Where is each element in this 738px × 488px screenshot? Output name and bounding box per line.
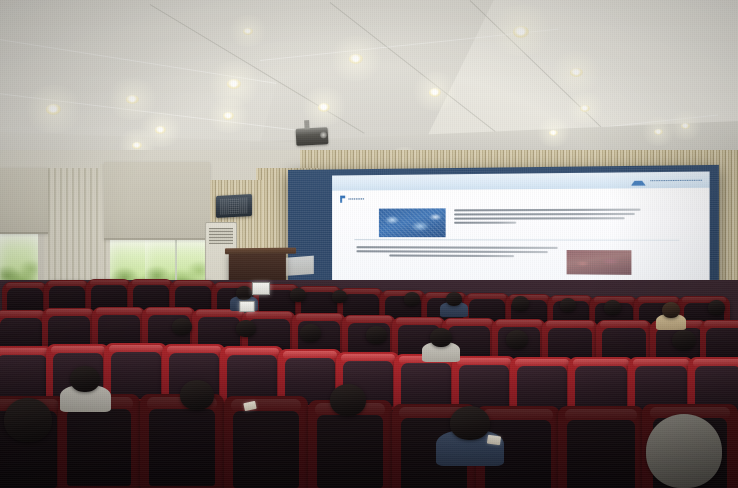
projector-icon [296,127,329,146]
blind-bar [0,232,48,234]
slide-title-text: ••••••••• [348,197,364,202]
roller-blind-center[interactable] [104,162,210,240]
attendee-head [450,406,490,440]
attendee-head [180,380,214,410]
downlight-icon [429,88,441,97]
slide-header: •••••••••••••••••••••••••••••• [332,171,710,190]
attendee-head [430,328,452,347]
slide-header-text: •••••••••••••••••••••••••••••• [650,178,702,183]
downlight-icon [46,104,61,115]
blind-bar [104,238,210,240]
roller-blind-left[interactable] [0,168,48,234]
attendee-head [446,292,462,306]
downlight-icon [580,105,590,112]
attendee-head [662,302,680,318]
attendee-laptop [239,301,254,312]
slide-image-network-map [379,208,446,237]
downlight-icon [132,142,142,149]
attendee-head [366,326,387,344]
led-screen[interactable]: •••••••••••••••••••••••••••••• ••••••••• [288,165,719,295]
auditorium-photo: •••••••••••••••••••••••••••••• ••••••••• [0,0,738,488]
auditorium-seat [140,394,224,488]
attendee-head [404,292,420,306]
downlight-icon [318,103,330,112]
attendee-head [560,298,576,312]
auditorium-seat [558,406,644,488]
org-logo-icon [631,175,646,186]
attendee-head [236,286,252,300]
downlight-icon [126,95,139,104]
attendee-phone-2 [487,435,501,446]
attendee-head [332,290,347,303]
slide-title: ••••••••• [340,195,364,202]
attendee-head [708,300,725,315]
attendee-head [672,330,696,350]
slide-image-terrain-photo [567,250,632,275]
slide-body-upper [454,209,640,226]
presenter-laptop [252,282,270,295]
downlight-icon [681,123,690,129]
downlight-icon [155,126,166,134]
attendee-head [4,398,52,442]
projector-lens [320,131,327,138]
loudspeaker-icon [216,194,252,218]
downlight-icon [227,79,241,89]
downlight-icon [654,129,663,135]
downlight-icon [223,112,234,120]
attendee-head [172,318,192,335]
attendee-head [236,320,256,337]
ceiling-plane-left [0,0,300,150]
presentation-slide: •••••••••••••••••••••••••••••• ••••••••• [332,171,710,287]
downlight-icon [243,28,253,35]
downlight-icon [513,26,529,38]
vertical-blinds-left [44,168,100,288]
attendee-head [70,366,100,392]
projector-mount [304,120,309,129]
ac-grille [209,228,233,244]
downlight-icon [549,130,558,136]
slide-divider [354,239,679,241]
attendee-head [512,296,529,311]
lectern-top [225,248,296,255]
attendee-head [290,288,306,302]
auditorium-seat [224,396,308,488]
attendee-head [330,384,366,416]
attendee-head [506,330,528,349]
attendee-head [604,300,621,315]
downlight-icon [570,68,583,77]
title-marker-icon [340,196,345,203]
auditorium-seat [104,343,168,401]
attendee-head [646,414,722,488]
slide-body-lower [356,246,557,259]
downlight-icon [349,54,363,64]
attendee-head [300,324,321,342]
